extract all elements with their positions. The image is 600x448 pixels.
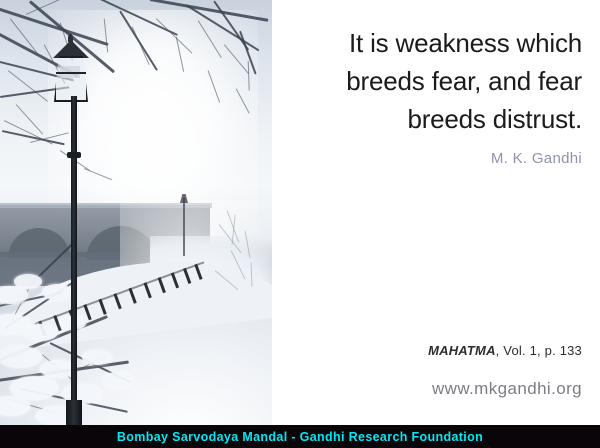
- street-lamp-crossbar: [56, 72, 86, 74]
- bare-tree-icon: [0, 0, 272, 215]
- source-citation: MAHATMA, Vol. 1, p. 133: [282, 343, 582, 358]
- fence-post: [38, 321, 46, 337]
- website-url[interactable]: www.mkgandhi.org: [282, 379, 582, 399]
- quote-line-2: breeds fear, and fear: [282, 62, 582, 100]
- fence-post: [113, 293, 121, 309]
- fence-post: [158, 277, 166, 293]
- footer-banner: Bombay Sarvodaya Mandal - Gandhi Researc…: [0, 425, 600, 448]
- quote-author: M. K. Gandhi: [282, 150, 582, 167]
- fence-post: [171, 272, 179, 288]
- fence-post: [98, 299, 106, 315]
- street-lamp-collar: [67, 152, 81, 158]
- street-lamp-cap: [53, 40, 89, 58]
- fence-post: [53, 315, 61, 331]
- quote-line-1: It is weakness which: [282, 24, 582, 62]
- distant-lamp-pole: [183, 198, 185, 256]
- source-book-title: MAHATMA: [428, 343, 496, 358]
- quote-line-3: breeds distrust.: [282, 100, 582, 138]
- quote-poster: It is weakness which breeds fear, and fe…: [0, 0, 600, 448]
- text-panel: It is weakness which breeds fear, and fe…: [272, 0, 600, 425]
- quote-text: It is weakness which breeds fear, and fe…: [282, 24, 582, 138]
- winter-photo: [0, 0, 272, 425]
- source-reference: , Vol. 1, p. 133: [496, 343, 582, 358]
- fence-post: [144, 282, 152, 298]
- fence-post: [194, 264, 202, 280]
- footer-banner-text: Bombay Sarvodaya Mandal - Gandhi Researc…: [117, 430, 483, 444]
- fence-post: [183, 268, 191, 284]
- fence-post: [83, 304, 91, 320]
- street-lamp-base: [66, 400, 82, 425]
- street-lamp-pole: [71, 96, 77, 425]
- fence-post: [128, 288, 136, 304]
